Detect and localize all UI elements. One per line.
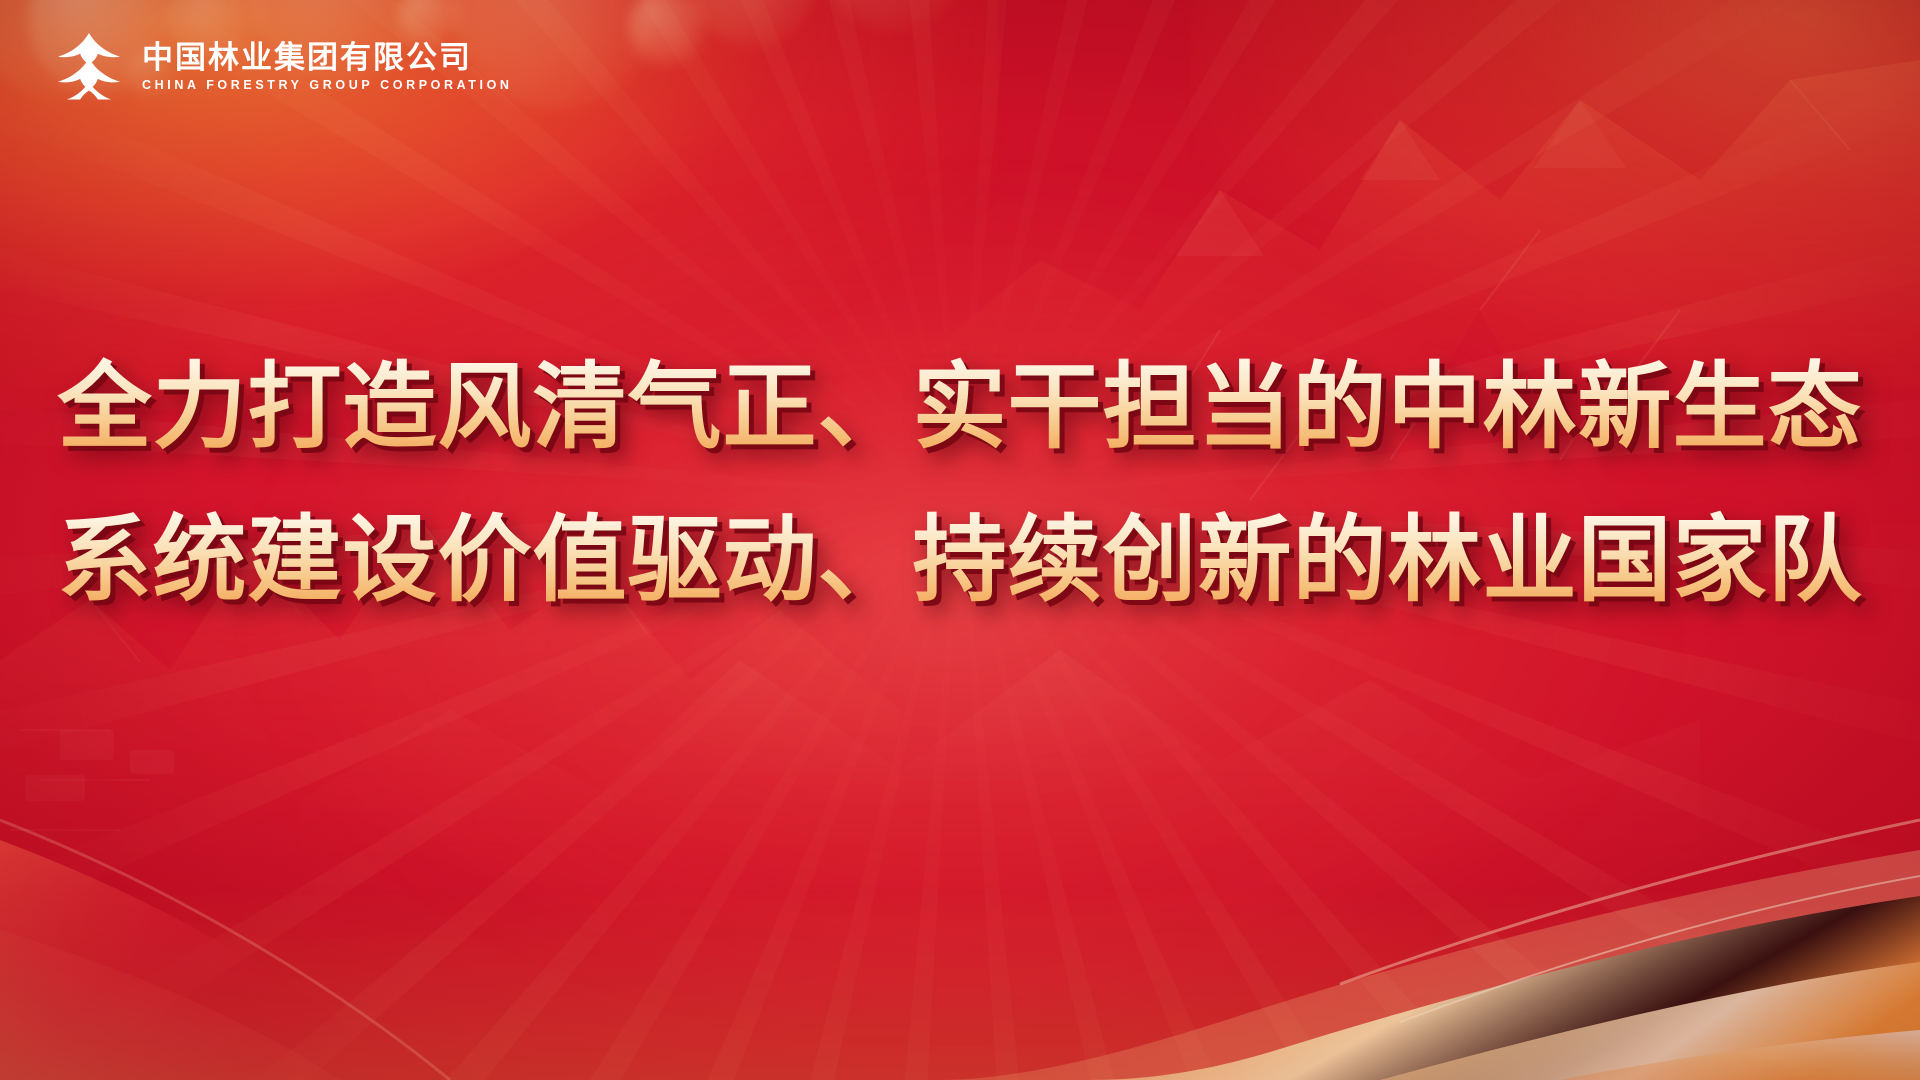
- brand-name-cn: 中国林业集团有限公司: [142, 42, 513, 75]
- bokeh-circle: [690, 0, 816, 46]
- brand-logo-text: 中国林业集团有限公司 CHINA FORESTRY GROUP CORPORAT…: [142, 42, 513, 91]
- layered-chevron-mountain-logo-icon: [52, 30, 126, 104]
- poster-canvas: 中国林业集团有限公司 CHINA FORESTRY GROUP CORPORAT…: [0, 0, 1920, 1080]
- headline-block: 全力打造风清气正、实干担当的中林新生态 系统建设价值驱动、持续创新的林业国家队: [0, 338, 1920, 630]
- brand-logo[interactable]: 中国林业集团有限公司 CHINA FORESTRY GROUP CORPORAT…: [52, 30, 513, 104]
- headline-line-1: 全力打造风清气正、实干担当的中林新生态: [46, 338, 1874, 477]
- bokeh-circle: [820, 0, 970, 30]
- brand-name-en: CHINA FORESTRY GROUP CORPORATION: [142, 79, 513, 92]
- crimson-swoosh-left-icon: [0, 780, 760, 1080]
- headline-line-2: 系统建设价值驱动、持续创新的林业国家队: [46, 491, 1874, 630]
